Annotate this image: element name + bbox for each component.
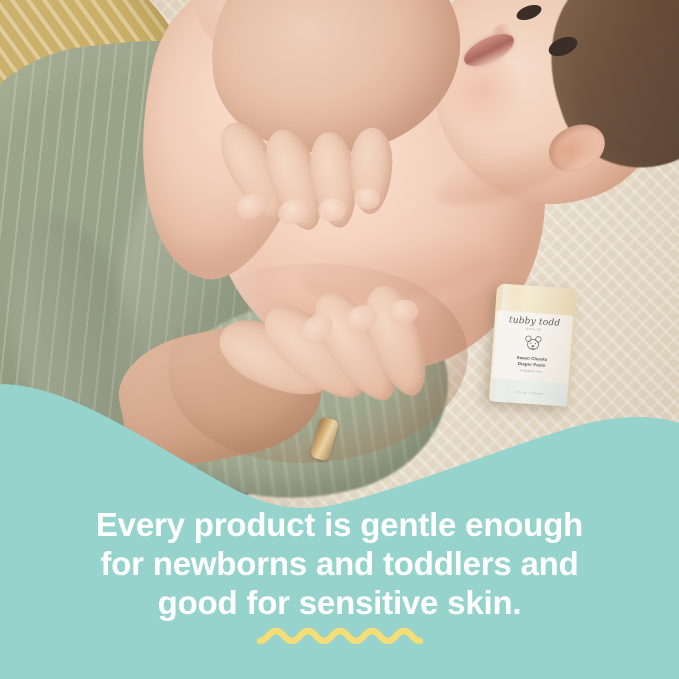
caption-line-1: Every product is gentle enough bbox=[60, 505, 619, 544]
brand-subtitle: BATH CO bbox=[526, 327, 542, 331]
wavy-underline-squiggle-icon bbox=[257, 626, 423, 648]
brand-name: tubby todd bbox=[509, 316, 561, 329]
squiggle-container bbox=[0, 626, 679, 648]
product-ad-card: tubby todd BATH CO Sweet Cheeks Diaper P… bbox=[0, 0, 679, 679]
caption-line-3: good for sensitive skin. bbox=[60, 583, 619, 622]
caption-block: Every product is gentle enough for newbo… bbox=[0, 505, 679, 622]
caption-line-2: for newborns and toddlers and bbox=[60, 544, 619, 583]
